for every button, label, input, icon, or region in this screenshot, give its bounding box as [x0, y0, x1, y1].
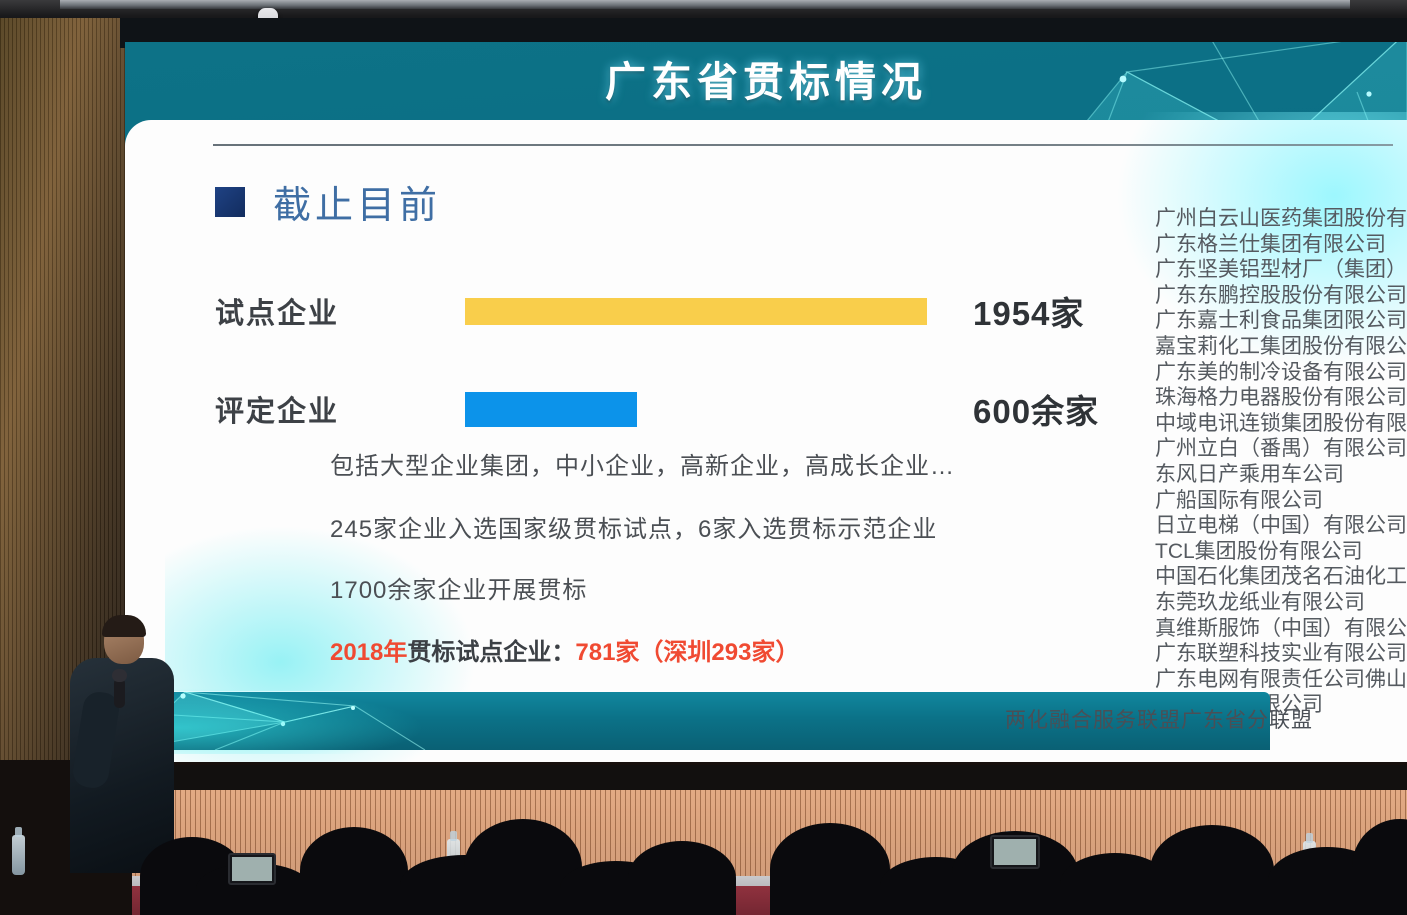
audience-phone — [990, 835, 1040, 869]
list-item: 东风日产乘用车公司 — [1155, 462, 1407, 488]
bar-value-pilot: 1954家 — [973, 287, 1084, 335]
body-line-1: 包括大型企业集团，中小企业，高新企业，高成长企业… — [330, 446, 955, 481]
list-item: 广东美的制冷设备有限公司 — [1155, 360, 1407, 386]
list-item: 中域电讯连锁集团股份有限公司 — [1155, 411, 1407, 437]
phone-screen — [232, 857, 272, 881]
list-item: 广州立白（番禺）有限公司 — [1155, 436, 1407, 462]
conference-photo: 广东省贯标情况 截止目前 试点企业 1954家 评定企业 600余家 包括大型企… — [0, 0, 1407, 915]
audience-head — [770, 823, 890, 915]
speaker-silhouette — [62, 618, 174, 868]
list-item: 珠海格力电器股份有限公司 — [1155, 385, 1407, 411]
list-item: 嘉宝莉化工集团股份有限公司 — [1155, 334, 1407, 360]
speaker-hair — [102, 615, 146, 637]
company-list: 广州白云山医药集团股份有限公司 广东格兰仕集团有限公司 广东坚美铝型材厂（集团）… — [1155, 206, 1407, 749]
microphone-icon — [114, 678, 125, 708]
audience-head — [1150, 825, 1274, 915]
bar-label-assessed: 评定企业 — [215, 388, 390, 430]
body-line-3: 1700余家企业开展贯标 — [330, 570, 587, 605]
list-item: TCL集团股份有限公司 — [1155, 539, 1407, 565]
list-item: 广东东鹏控股股份有限公司 — [1155, 283, 1407, 309]
highlight-line: 2018年贯标试点企业：781家（深圳293家） — [330, 632, 799, 667]
projection-screen: 广东省贯标情况 截止目前 试点企业 1954家 评定企业 600余家 包括大型企… — [125, 42, 1407, 762]
list-item: 广东嘉士利食品集团限公司 — [1155, 308, 1407, 334]
slide-footer-text: 两化融合服务联盟广东省分联盟 — [1005, 704, 1405, 734]
square-bullet-icon — [215, 187, 245, 217]
section-heading: 截止目前 — [215, 174, 441, 229]
highlight-count: 781家（深圳293家） — [575, 639, 799, 666]
list-item: 广东格兰仕集团有限公司 — [1155, 232, 1407, 258]
audience-head — [300, 827, 408, 915]
title-divider — [213, 144, 1393, 146]
bar-fill-assessed — [465, 392, 637, 427]
bar-row-assessed: 评定企业 600余家 — [215, 385, 1099, 433]
list-item: 广东电网有限责任公司佛山供电局 — [1155, 667, 1407, 693]
list-item: 广州白云山医药集团股份有限公司 — [1155, 206, 1407, 232]
section-heading-label: 截止目前 — [273, 174, 441, 229]
phone-screen — [994, 839, 1036, 865]
list-item: 东莞玖龙纸业有限公司 — [1155, 590, 1407, 616]
bar-label-pilot: 试点企业 — [215, 290, 390, 332]
body-line-2: 245家企业入选国家级贯标试点，6家入选贯标示范企业 — [330, 509, 937, 544]
list-item: 真维斯服饰（中国）有限公司 — [1155, 616, 1407, 642]
bar-fill-pilot — [465, 298, 927, 325]
bar-value-assessed: 600余家 — [973, 385, 1099, 433]
list-item: 日立电梯（中国）有限公司 — [1155, 513, 1407, 539]
screen-frame-bottom — [120, 765, 1407, 793]
highlight-year: 2018年 — [330, 639, 407, 666]
slide-title: 广东省贯标情况 — [125, 48, 1407, 108]
list-item: 广东联塑科技实业有限公司 — [1155, 641, 1407, 667]
bar-row-pilot: 试点企业 1954家 — [215, 287, 1084, 335]
audience-phone — [228, 853, 276, 885]
list-item: 广船国际有限公司 — [1155, 488, 1407, 514]
list-item: 广东坚美铝型材厂（集团）有限公司 — [1155, 257, 1407, 283]
ceiling-trim — [60, 0, 1350, 9]
list-item: 中国石化集团茂名石油化工公司 — [1155, 564, 1407, 590]
audience-head — [628, 841, 736, 915]
water-bottle — [12, 835, 25, 875]
highlight-middle: 贯标试点企业： — [407, 639, 575, 666]
